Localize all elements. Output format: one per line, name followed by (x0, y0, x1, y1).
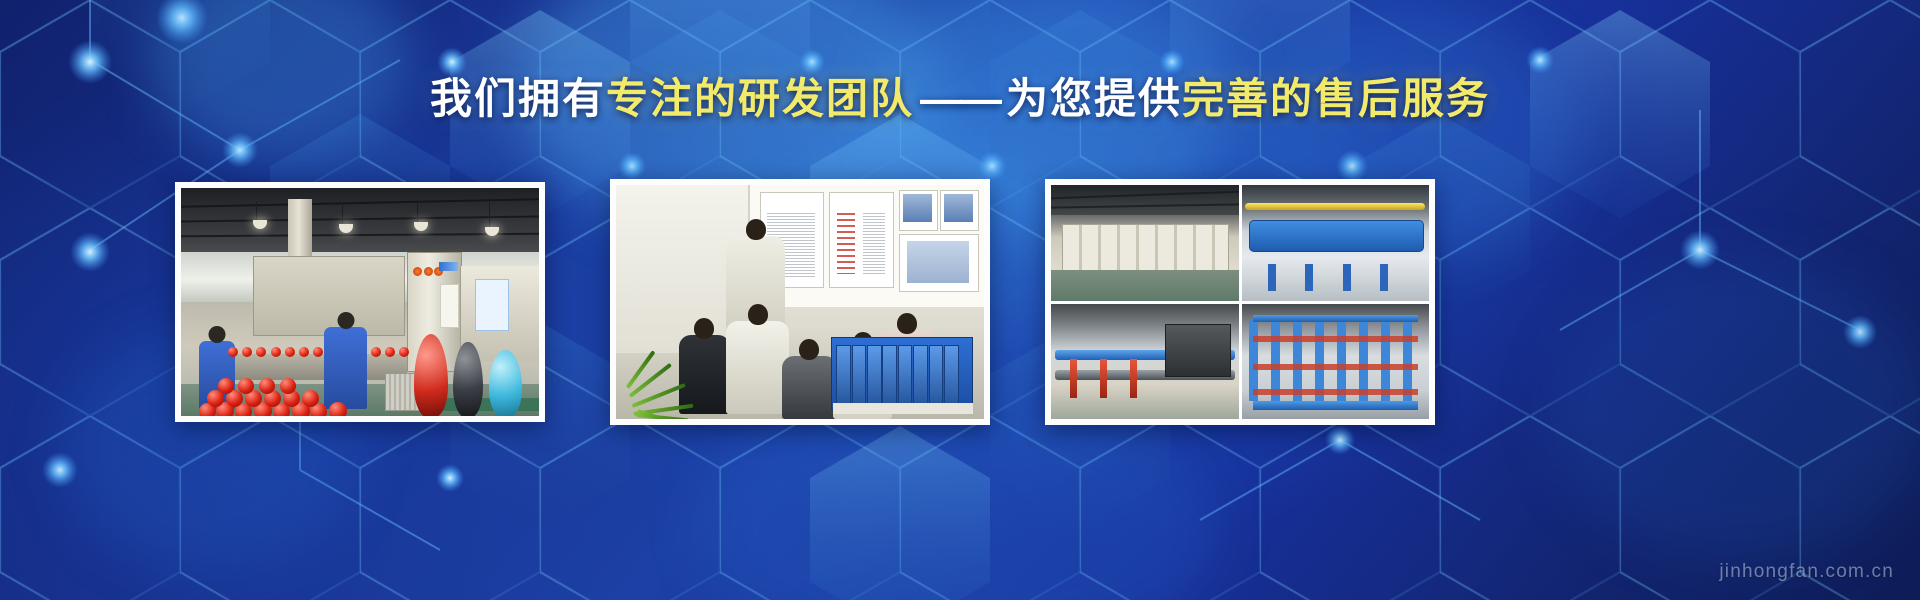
product-vase-dark (453, 342, 483, 416)
background-glow (700, 400, 1220, 600)
photo-frame-equipment-collage[interactable] (1045, 179, 1435, 425)
product-vase-red (414, 334, 448, 416)
headline-segment-1: 我们拥有 (430, 75, 606, 122)
photo-equipment-collage (1051, 185, 1429, 419)
headline-segment-3: 为您提供 (1006, 75, 1182, 122)
photo-frame-factory-spray-line[interactable] (175, 182, 545, 422)
headline-dash: —— (914, 75, 1006, 122)
foreground-plant (620, 339, 701, 419)
photo-rnd-team-meeting (616, 185, 984, 419)
collage-cell-conveyor-rail (1051, 304, 1239, 420)
collage-cell-hanger-line (1242, 304, 1430, 420)
product-vase-cyan (489, 350, 522, 416)
photo-panel-row (0, 182, 1920, 414)
site-watermark: jinhongfan.com.cn (1719, 561, 1894, 583)
headline-segment-4: 完善的售后服务 (1182, 75, 1490, 122)
headline-segment-2: 专注的研发团队 (606, 75, 914, 122)
collage-cell-blue-duct (1242, 185, 1430, 301)
photo-factory-spray-line (181, 188, 539, 416)
product-red-spheres (195, 361, 367, 416)
banner-headline: 我们拥有专注的研发团队——为您提供完善的售后服务 (0, 78, 1920, 120)
banner-stage: 我们拥有专注的研发团队——为您提供完善的售后服务 (0, 0, 1920, 600)
collage-cell-drying-line (1051, 185, 1239, 301)
photo-frame-rnd-team-meeting[interactable] (610, 179, 990, 425)
